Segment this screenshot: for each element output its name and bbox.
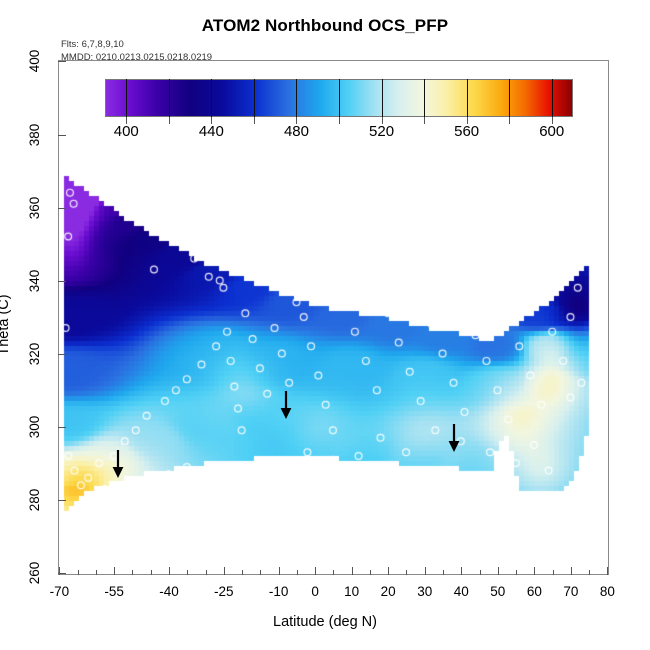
x-tick-label: 0	[311, 584, 319, 599]
colorbar-separator	[339, 79, 340, 117]
colorbar-label: 520	[369, 123, 394, 140]
x-tick-label: 10	[344, 584, 359, 599]
colorbar-separator	[424, 79, 425, 117]
x-tick-label: -55	[104, 584, 124, 599]
x-tick-label: 50	[490, 584, 505, 599]
colorbar-separator	[382, 79, 383, 117]
colorbar-tick	[339, 117, 340, 124]
colorbar-label: 600	[539, 123, 564, 140]
x-tick-label: 40	[454, 584, 469, 599]
x-tick-label: -25	[214, 584, 234, 599]
page-title: ATOM2 Northbound OCS_PFP	[0, 16, 650, 36]
colorbar-tick	[509, 117, 510, 124]
y-tick-label: 360	[27, 196, 42, 219]
colorbar-separator	[509, 79, 510, 117]
colorbar-separator	[552, 79, 553, 117]
colorbar-separator	[211, 79, 212, 117]
colorbar-tick	[424, 117, 425, 124]
colorbar-label: 560	[454, 123, 479, 140]
x-tick-label: -70	[50, 584, 70, 599]
y-tick-label: 260	[27, 562, 42, 585]
colorbar-separator	[467, 79, 468, 117]
y-tick-label: 380	[27, 123, 42, 146]
colorbar-label: 480	[284, 123, 309, 140]
colorbar-tick	[169, 117, 170, 124]
flights-annotation: Flts: 6,7,8,9,10	[61, 39, 124, 50]
x-axis-title: Latitude (deg N)	[0, 614, 650, 630]
x-tick-label: 80	[600, 584, 615, 599]
y-tick-label: 300	[27, 416, 42, 439]
colorbar-separator	[296, 79, 297, 117]
x-tick-label: 70	[563, 584, 578, 599]
colorbar-label: 400	[114, 123, 139, 140]
colorbar-separator	[254, 79, 255, 117]
y-tick-label: 400	[27, 50, 42, 73]
x-tick-label: 30	[417, 584, 432, 599]
x-tick-label: 60	[527, 584, 542, 599]
colorbar-label: 440	[199, 123, 224, 140]
y-tick-label: 280	[27, 489, 42, 512]
colorbar-separator	[126, 79, 127, 117]
colorbar-tick	[254, 117, 255, 124]
colorbar: 400440480520560600	[105, 79, 573, 139]
x-tick-label: -10	[269, 584, 289, 599]
colorbar-separator	[169, 79, 170, 117]
y-tick-label: 320	[27, 343, 42, 366]
y-axis-title: Theta (C)	[0, 294, 12, 355]
y-tick-label: 340	[27, 270, 42, 293]
x-tick-label: 20	[381, 584, 396, 599]
plot-root: ATOM2 Northbound OCS_PFP Flts: 6,7,8,9,1…	[0, 0, 650, 650]
x-tick-label: -40	[159, 584, 179, 599]
